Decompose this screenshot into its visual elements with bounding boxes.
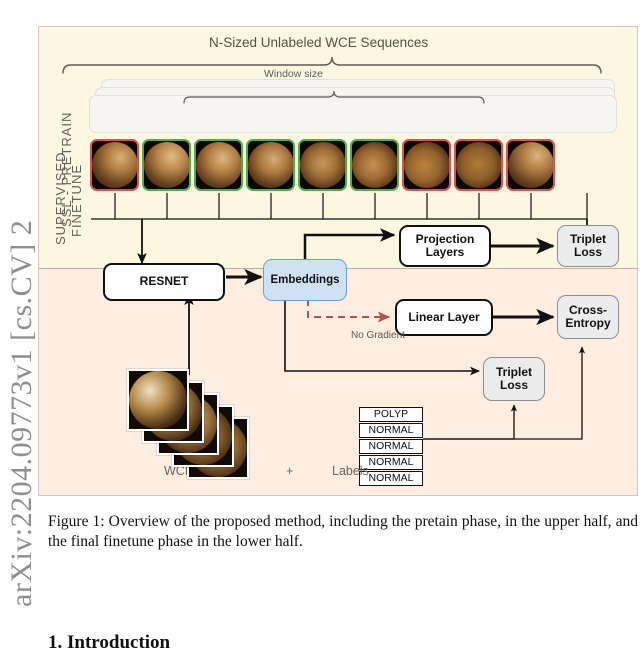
node-linear-layer[interactable]: Linear Layer [395,299,493,336]
node-projection-layers-line2: Layers [426,246,465,259]
wce-lumen [456,142,502,188]
node-embeddings-label: Embeddings [270,274,339,287]
node-projection-layers[interactable]: Projection Layers [399,225,491,267]
wce-thumbnail [298,139,347,191]
wce-lumen [92,142,138,188]
wce-lumen [404,142,450,188]
wce-stack-image [127,369,189,431]
wce-thumbnail [194,139,243,191]
wce-lumen [352,142,398,188]
node-embeddings[interactable]: Embeddings [263,259,347,301]
node-linear-layer-label: Linear Layer [408,311,479,324]
figure-diagram: SSL - PRETRAIN SUPERVISED FINETUNE N-Siz… [38,26,638,496]
wce-thumbnail [402,139,451,191]
node-cross-entropy[interactable]: Cross- Entropy [557,295,619,339]
wce-thumbnail [454,139,503,191]
node-cross-entropy-line1: Cross- [569,304,607,317]
section-heading: 1. Introduction [48,632,170,654]
node-triplet-loss-top-line1: Triplet [570,233,606,246]
wce-lumen [144,142,190,188]
arxiv-watermark-text: arXiv:2204.09773v1 [cs.CV] 2 [5,27,39,607]
wce-thumbnail [506,139,555,191]
label-chip: NORMAL [359,439,423,454]
node-triplet-loss-top[interactable]: Triplet Loss [557,225,619,267]
node-resnet[interactable]: RESNET [103,263,225,301]
bottom-label-labels: Labels [332,464,369,478]
wce-thumbnail [142,139,191,191]
node-cross-entropy-line2: Entropy [565,317,610,330]
wce-lumen [508,142,554,188]
node-resnet-label: RESNET [140,275,189,288]
wce-lumen [248,142,294,188]
edge-label-no-gradient: No Gradient [351,330,405,341]
wce-thumbnail [246,139,295,191]
wce-lumen [300,142,346,188]
label-chip: NORMAL [359,423,423,438]
figure-caption-text: Figure 1: Overview of the proposed metho… [48,513,638,550]
wce-thumbnail [90,139,139,191]
wce-thumbnail [350,139,399,191]
figure-caption: Figure 1: Overview of the proposed metho… [48,512,638,553]
wce-lumen [196,142,242,188]
node-triplet-loss-bottom-line2: Loss [500,379,528,392]
bottom-label-plus: + [286,464,293,478]
node-triplet-loss-bottom-line1: Triplet [496,366,532,379]
node-triplet-loss-top-line2: Loss [574,246,602,259]
node-triplet-loss-bottom[interactable]: Triplet Loss [483,357,545,401]
label-chip: POLYP [359,407,423,422]
node-projection-layers-line1: Projection [416,233,475,246]
wce-lumen [129,371,187,429]
